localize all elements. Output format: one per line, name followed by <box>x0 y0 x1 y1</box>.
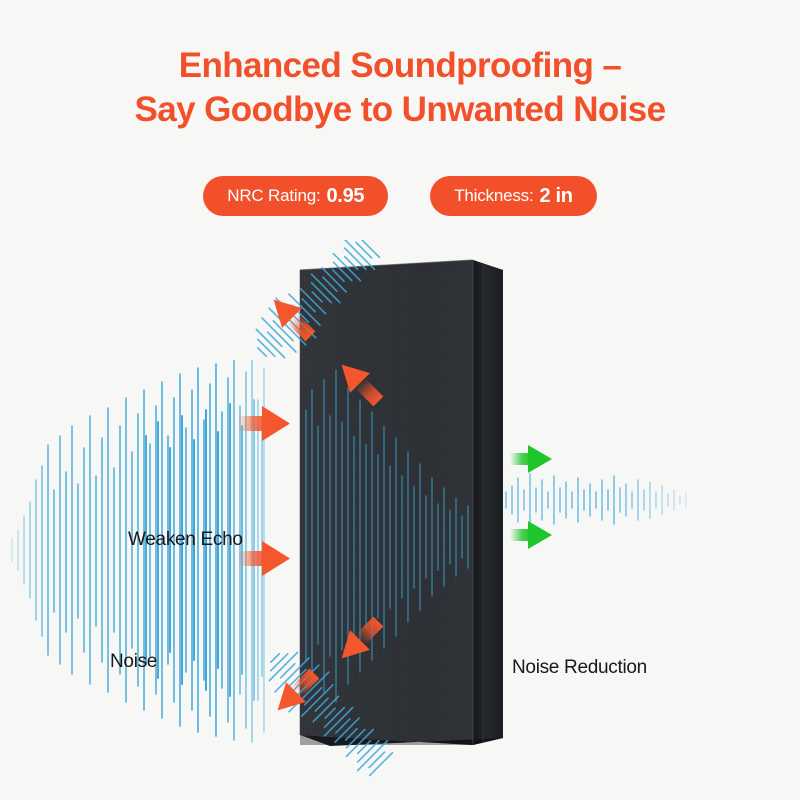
soundproofing-diagram: Weaken Echo Noise Noise Reduction Weaken… <box>0 240 800 800</box>
label-weaken-echo-top: Weaken Echo <box>128 529 243 551</box>
arrow-reduction-lower <box>510 521 552 549</box>
headline-line-2: Say Goodbye to Unwanted Noise <box>0 88 800 132</box>
headline-line-1: Enhanced Soundproofing – <box>0 44 800 88</box>
badge-thickness: Thickness: 2 in <box>430 176 597 216</box>
label-noise: Noise <box>110 651 157 673</box>
badge-nrc-rating: NRC Rating: 0.95 <box>203 176 388 216</box>
badge-nrc-value: 0.95 <box>326 185 364 208</box>
label-noise-reduction: Noise Reduction <box>512 657 647 679</box>
badge-thickness-value: 2 in <box>539 185 572 208</box>
diagram-svg <box>0 240 800 800</box>
panel-fabric-texture <box>300 270 473 745</box>
infographic-canvas: Enhanced Soundproofing – Say Goodbye to … <box>0 0 800 800</box>
badge-thickness-label: Thickness: <box>454 186 533 206</box>
reduced-noise-waveform <box>506 474 686 526</box>
page-title: Enhanced Soundproofing – Say Goodbye to … <box>0 44 800 132</box>
panel-side-face <box>473 260 503 745</box>
spec-badge-group: NRC Rating: 0.95 Thickness: 2 in <box>0 176 800 216</box>
badge-nrc-label: NRC Rating: <box>227 186 320 206</box>
arrow-reduction-upper <box>510 445 552 473</box>
